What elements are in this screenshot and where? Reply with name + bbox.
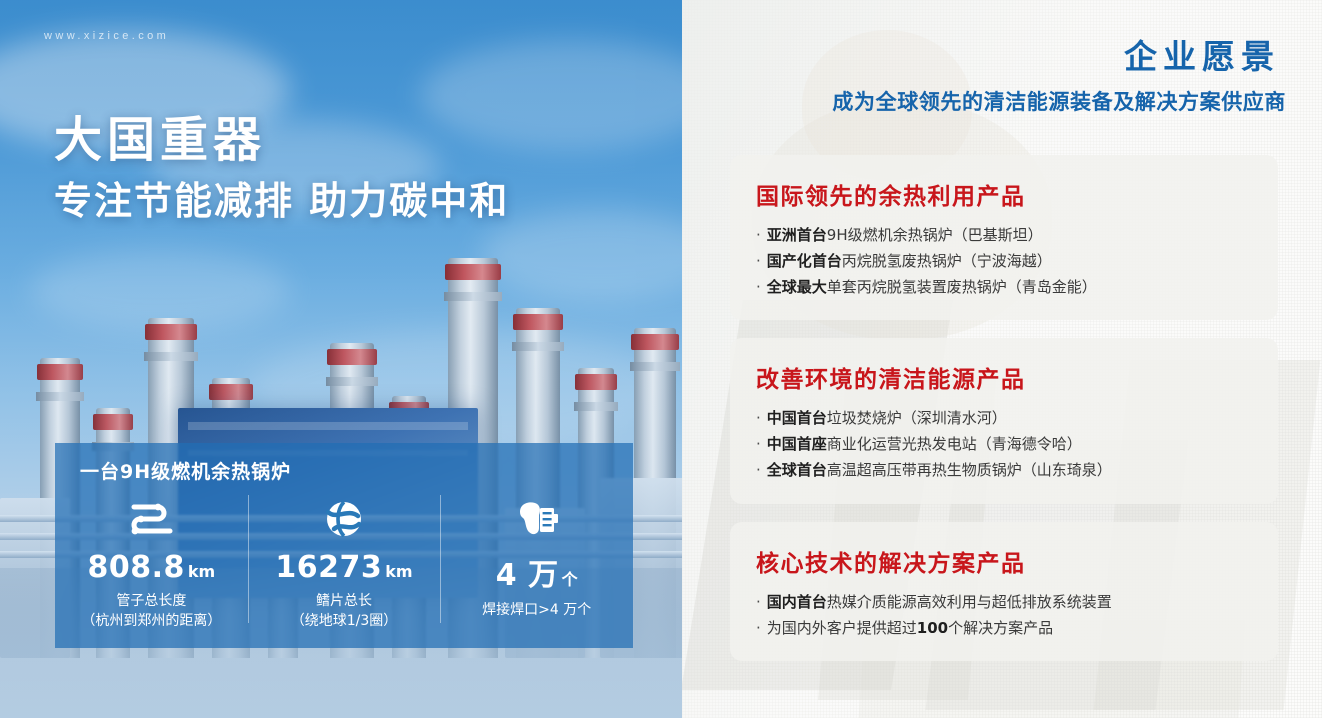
vision-title: 企业愿景 <box>1124 30 1280 78</box>
bullet-emphasis: 中国首座 <box>767 435 827 453</box>
stat-item-weld-joints: 4 万个 焊接焊口>4 万个 <box>440 491 633 620</box>
bullet-emphasis: 国产化首台 <box>767 252 842 270</box>
card-title: 改善环境的清洁能源产品 <box>756 360 1252 394</box>
list-item: · 中国首台垃圾焚烧炉（深圳清水河） <box>756 406 1252 432</box>
bullet-text: 国产化首台丙烷脱氢废热锅炉（宁波海越） <box>767 249 1052 275</box>
vision-card-list: 国际领先的余热利用产品 · 亚洲首台9H级燃机余热锅炉（巴基斯坦） · 国产化首… <box>730 155 1278 679</box>
stat-item-fin-length: 16273km 鳍片总长 （绕地球1/3圈） <box>248 491 441 632</box>
serpentine-pipe-icon <box>55 497 248 541</box>
stat-unit: km <box>385 562 412 581</box>
bullet-marker: · <box>756 458 761 484</box>
bullet-emphasis: 国内首台 <box>767 593 827 611</box>
bullet-marker: · <box>756 432 761 458</box>
list-item: · 中国首座商业化运营光热发电站（青海德令哈） <box>756 432 1252 458</box>
stat-label-line1: 管子总长度 <box>55 591 248 611</box>
list-item: · 亚洲首台9H级燃机余热锅炉（巴基斯坦） <box>756 223 1252 249</box>
bullet-marker: · <box>756 249 761 275</box>
bullet-emphasis: 亚洲首台 <box>767 226 827 244</box>
stat-label: 鳍片总长 （绕地球1/3圈） <box>248 591 441 632</box>
stat-number: 16273 <box>275 550 382 585</box>
bullet-rest: 丙烷脱氢废热锅炉（宁波海越） <box>842 252 1052 270</box>
stat-unit: km <box>188 562 215 581</box>
list-item: · 全球最大单套丙烷脱氢装置废热锅炉（青岛金能） <box>756 275 1252 301</box>
vision-card: 国际领先的余热利用产品 · 亚洲首台9H级燃机余热锅炉（巴基斯坦） · 国产化首… <box>730 155 1278 320</box>
card-title: 国际领先的余热利用产品 <box>756 177 1252 211</box>
bullet-text: 中国首台垃圾焚烧炉（深圳清水河） <box>767 406 1007 432</box>
page-headline: 大国重器 <box>54 100 266 170</box>
bullet-marker: · <box>756 406 761 432</box>
page-subheadline: 专注节能减排 助力碳中和 <box>54 170 509 225</box>
bullet-marker: · <box>756 223 761 249</box>
bullet-rest: 9H级燃机余热锅炉（巴基斯坦） <box>827 226 1043 244</box>
bullet-marker: · <box>756 275 761 301</box>
stats-panel-title: 一台9H级燃机余热锅炉 <box>80 457 291 484</box>
stat-item-pipe-length: 808.8km 管子总长度 （杭州到郑州的距离） <box>55 491 248 632</box>
stat-label: 管子总长度 （杭州到郑州的距离） <box>55 591 248 632</box>
vision-subtitle: 成为全球领先的清洁能源装备及解决方案供应商 <box>832 86 1286 116</box>
bullet-emphasis: 全球首台 <box>767 461 827 479</box>
vision-card: 核心技术的解决方案产品 · 国内首台热媒介质能源高效利用与超低排放系统装置 · … <box>730 522 1278 662</box>
bullet-text: 为国内外客户提供超过100个解决方案产品 <box>767 616 1053 642</box>
right-content-panel: 企业愿景 成为全球领先的清洁能源装备及解决方案供应商 国际领先的余热利用产品 ·… <box>682 0 1322 718</box>
bullet-rest-2: 个解决方案产品 <box>948 619 1053 637</box>
vision-card: 改善环境的清洁能源产品 · 中国首台垃圾焚烧炉（深圳清水河） · 中国首座商业化… <box>730 338 1278 503</box>
stat-label: 焊接焊口>4 万个 <box>440 600 633 620</box>
bullet-text: 全球首台高温超高压带再热生物质锅炉（山东琦泉） <box>767 458 1112 484</box>
bullet-rest: 单套丙烷脱氢装置废热锅炉（青岛金能） <box>827 278 1097 296</box>
bullet-rest: 热媒介质能源高效利用与超低排放系统装置 <box>827 593 1112 611</box>
stat-value-group: 808.8km <box>55 550 248 585</box>
bullet-text: 亚洲首台9H级燃机余热锅炉（巴基斯坦） <box>767 223 1043 249</box>
left-photo-panel: www.xizice.com 大国重器 专注节能减排 助力碳中和 一台9H级燃机… <box>0 0 712 718</box>
bullet-rest: 高温超高压带再热生物质锅炉（山东琦泉） <box>827 461 1112 479</box>
stat-number: 808.8 <box>87 550 184 585</box>
list-item: · 国内首台热媒介质能源高效利用与超低排放系统装置 <box>756 590 1252 616</box>
bullet-text: 国内首台热媒介质能源高效利用与超低排放系统装置 <box>767 590 1112 616</box>
bullet-rest: 垃圾焚烧炉（深圳清水河） <box>827 409 1007 427</box>
stat-value-group: 4 万个 <box>440 550 633 594</box>
list-item: · 全球首台高温超高压带再热生物质锅炉（山东琦泉） <box>756 458 1252 484</box>
bullet-rest: 商业化运营光热发电站（青海德令哈） <box>827 435 1082 453</box>
stats-panel: 一台9H级燃机余热锅炉 808.8km <box>55 443 633 648</box>
stat-label-line1: 鳍片总长 <box>248 591 441 611</box>
bullet-marker: · <box>756 616 761 642</box>
stat-label-line2: （杭州到郑州的距离） <box>55 611 248 631</box>
bullet-emphasis-2: 100 <box>917 619 948 637</box>
stat-label-line1: 焊接焊口>4 万个 <box>440 600 633 620</box>
stat-number: 4 万 <box>496 558 559 593</box>
card-title: 核心技术的解决方案产品 <box>756 544 1252 578</box>
list-item: · 国产化首台丙烷脱氢废热锅炉（宁波海越） <box>756 249 1252 275</box>
site-watermark: www.xizice.com <box>44 30 169 42</box>
bullet-text: 全球最大单套丙烷脱氢装置废热锅炉（青岛金能） <box>767 275 1097 301</box>
welding-mask-icon <box>440 497 633 541</box>
bullet-emphasis: 中国首台 <box>767 409 827 427</box>
bullet-rest: 为国内外客户提供超过 <box>767 619 917 637</box>
stat-value-group: 16273km <box>248 550 441 585</box>
stat-label-line2: （绕地球1/3圈） <box>248 611 441 631</box>
stat-unit: 个 <box>562 570 578 589</box>
bullet-marker: · <box>756 590 761 616</box>
slide-root: www.xizice.com 大国重器 专注节能减排 助力碳中和 一台9H级燃机… <box>0 0 1322 718</box>
globe-icon <box>248 497 441 541</box>
bullet-emphasis: 全球最大 <box>767 278 827 296</box>
stats-row: 808.8km 管子总长度 （杭州到郑州的距离） <box>55 491 633 641</box>
bullet-text: 中国首座商业化运营光热发电站（青海德令哈） <box>767 432 1082 458</box>
list-item: · 为国内外客户提供超过100个解决方案产品 <box>756 616 1252 642</box>
